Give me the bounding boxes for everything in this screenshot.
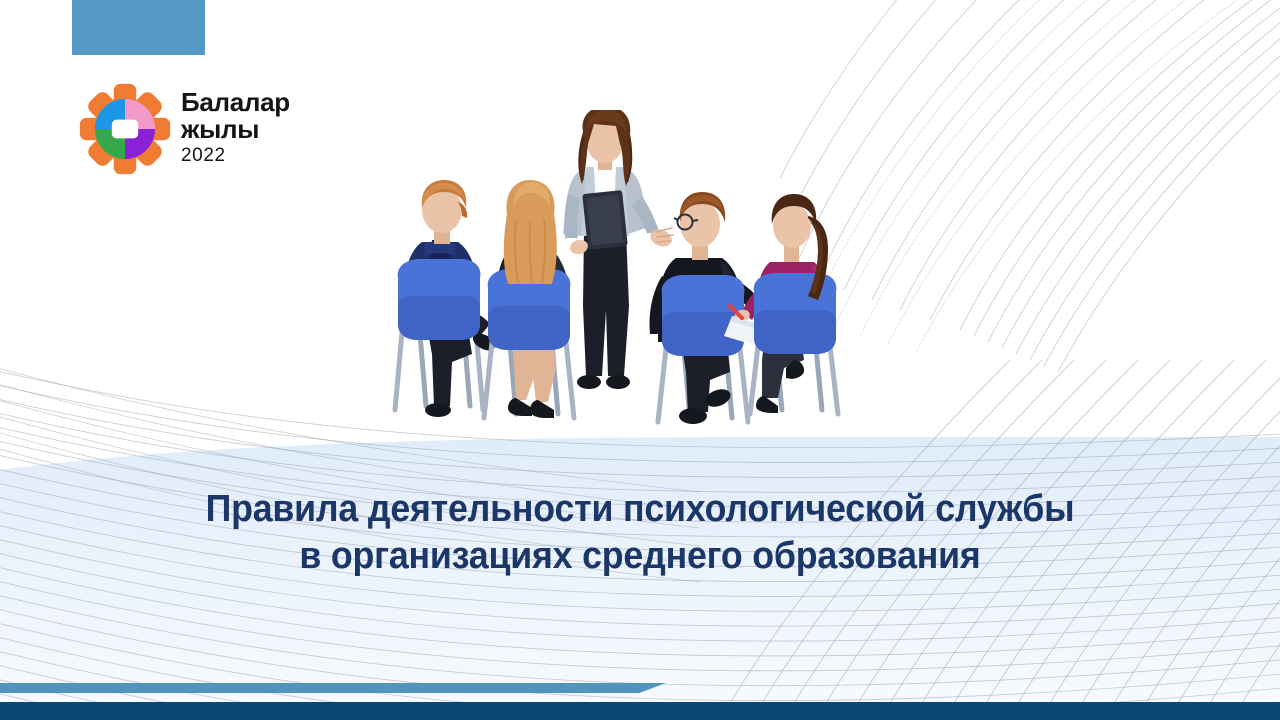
title-line-1: Правила деятельности психологической слу… [38,486,1241,533]
participant-man-left-figure [395,180,498,417]
participant-woman-blonde-figure [484,180,574,418]
title-line-2: в организациях среднего образования [38,533,1241,580]
accent-rectangle [72,0,205,55]
logo-line-1: Балалар [181,89,290,116]
slide-canvas: Балалар жылы 2022 [0,0,1280,720]
logo-line-2: жылы [181,116,290,143]
presenter-standing-figure [563,110,674,389]
logo-year: 2022 [181,146,290,165]
group-counselling-illustration [380,110,850,440]
footer-accent-stripe [0,683,666,693]
slide-title: Правила деятельности психологической слу… [0,486,1280,580]
footer-bar [0,702,1280,720]
brand-logo: Балалар жылы 2022 [78,82,290,176]
balalar-zhyly-flower-icon [78,82,172,176]
